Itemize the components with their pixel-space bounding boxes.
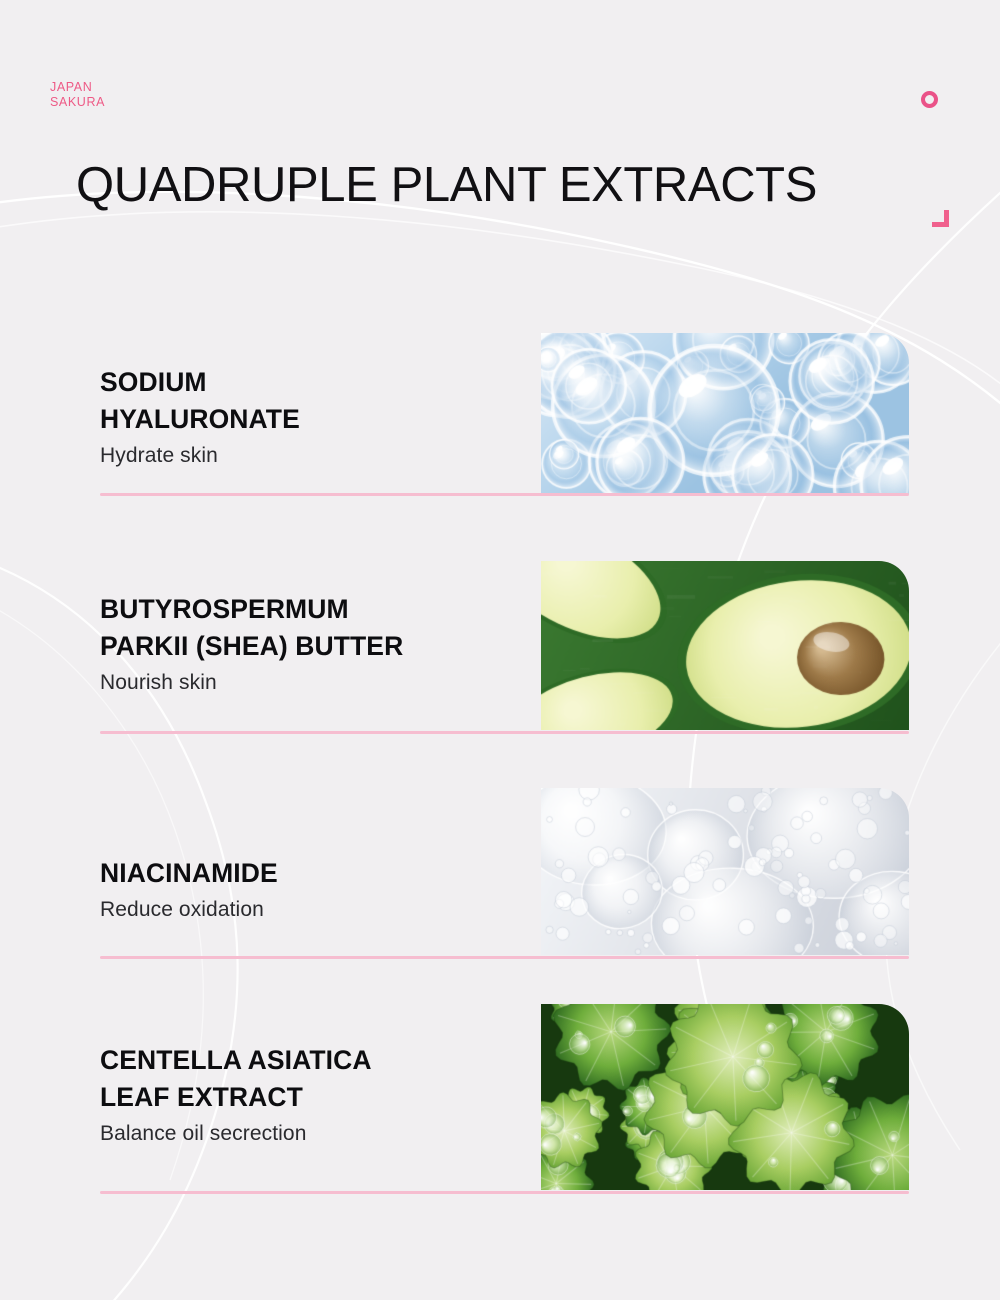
page-title: QUADRUPLE PLANT EXTRACTS bbox=[76, 157, 817, 213]
ingredient-benefit: Reduce oxidation bbox=[100, 896, 530, 923]
divider-rule bbox=[100, 956, 909, 959]
avocado-photo-canvas bbox=[541, 561, 909, 730]
ingredient-name: CENTELLA ASIATICA LEAF EXTRACT bbox=[100, 1042, 530, 1116]
ingredient-name: NIACINAMIDE bbox=[100, 855, 530, 892]
ingredient-benefit: Hydrate skin bbox=[100, 442, 530, 469]
ingredient-benefit: Nourish skin bbox=[100, 669, 530, 696]
ingredient-name: BUTYROSPERMUM PARKII (SHEA) BUTTER bbox=[100, 591, 530, 665]
water-bubbles-photo-canvas bbox=[541, 333, 909, 494]
avocado-photo bbox=[541, 561, 909, 730]
divider-rule bbox=[100, 493, 909, 496]
ingredient-benefit: Balance oil secrection bbox=[100, 1120, 530, 1147]
clear-gel-droplets-photo bbox=[541, 788, 909, 955]
brand-line-1: JAPAN bbox=[50, 80, 105, 95]
ingredient-name: SODIUM HYALURONATE bbox=[100, 364, 530, 438]
divider-rule bbox=[100, 731, 909, 734]
water-bubbles-photo bbox=[541, 333, 909, 494]
corner-bracket-icon bbox=[932, 210, 949, 227]
divider-rule bbox=[100, 1191, 909, 1194]
clear-gel-droplets-photo-canvas bbox=[541, 788, 909, 955]
centella-leaves-photo-canvas bbox=[541, 1004, 909, 1190]
ingredient-text-block: BUTYROSPERMUM PARKII (SHEA) BUTTERNouris… bbox=[100, 591, 530, 696]
brand-line-2: SAKURA bbox=[50, 95, 105, 110]
circle-outline-icon bbox=[921, 91, 938, 108]
ingredient-text-block: NIACINAMIDEReduce oxidation bbox=[100, 855, 530, 923]
ingredient-text-block: SODIUM HYALURONATEHydrate skin bbox=[100, 364, 530, 469]
brand-mark: JAPAN SAKURA bbox=[50, 80, 105, 111]
centella-leaves-photo bbox=[541, 1004, 909, 1190]
ingredient-text-block: CENTELLA ASIATICA LEAF EXTRACTBalance oi… bbox=[100, 1042, 530, 1147]
